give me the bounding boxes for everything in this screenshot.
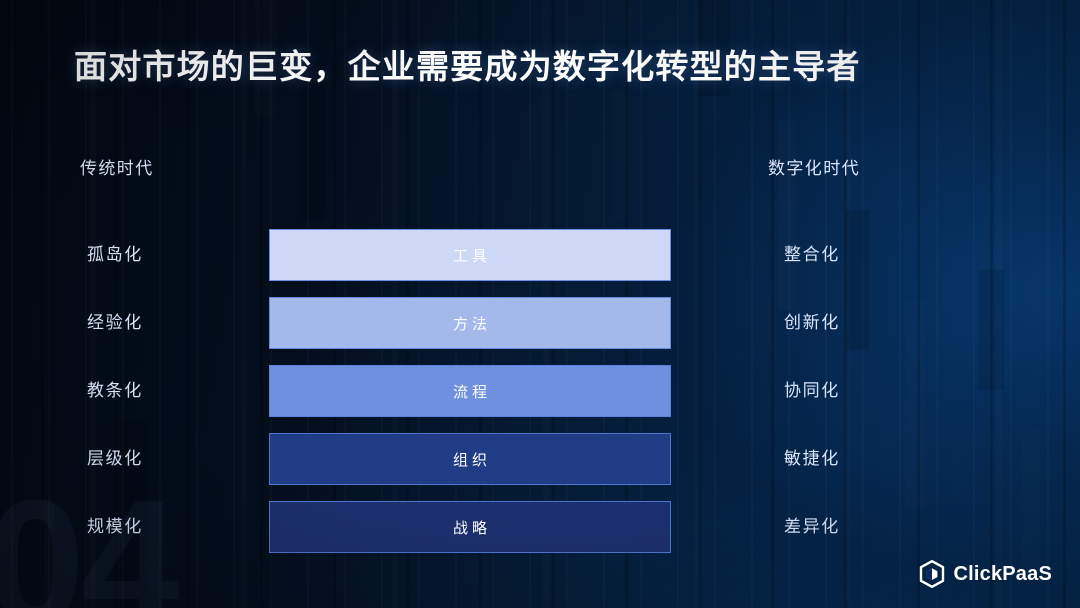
brand-logo: ClickPaaS xyxy=(919,560,1052,588)
hexagon-cube-icon xyxy=(919,560,945,588)
vignette-overlay xyxy=(0,0,1080,608)
presentation-slide: 04 面对市场的巨变，企业需要成为数字化转型的主导者 传统时代 数字化时代 孤岛… xyxy=(0,0,1080,608)
logo-text: ClickPaaS xyxy=(953,563,1052,586)
